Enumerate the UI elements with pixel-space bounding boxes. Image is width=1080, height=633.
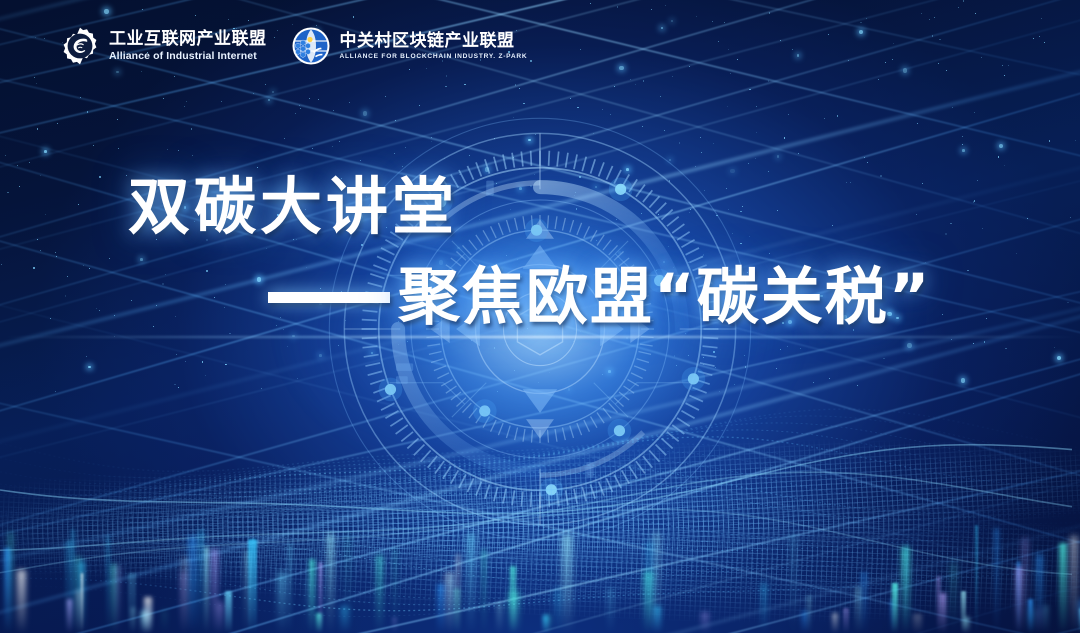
poster-main-title: 双碳大讲堂 <box>128 176 1080 238</box>
logo-bar: 工业互联网产业联盟 Alliance of Industrial Interne… <box>60 26 527 66</box>
horizontal-light-beam <box>0 336 1080 338</box>
logo-en-blockchain: ALLIANCE FOR BLOCKCHAIN INDUSTRY. Z-PARK <box>340 54 528 61</box>
logo-industrial-internet: 工业互联网产业联盟 Alliance of Industrial Interne… <box>60 26 267 66</box>
digital-wave <box>0 403 1080 633</box>
event-poster: 工业互联网产业联盟 Alliance of Industrial Interne… <box>0 0 1080 633</box>
logo-en-industrial: Alliance of Industrial Internet <box>109 51 267 62</box>
logo-cn-industrial: 工业互联网产业联盟 <box>109 30 267 47</box>
logo-cn-blockchain: 中关村区块链产业联盟 <box>340 32 528 49</box>
globe-blockchain-icon <box>291 26 331 66</box>
logo-blockchain-zpark: 中关村区块链产业联盟 ALLIANCE FOR BLOCKCHAIN INDUS… <box>291 26 528 66</box>
poster-subtitle: 聚焦欧盟“碳关税” <box>268 266 1080 328</box>
logo-text-blockchain: 中关村区块链产业联盟 ALLIANCE FOR BLOCKCHAIN INDUS… <box>340 32 528 61</box>
em-dash-rule <box>268 292 390 303</box>
poster-subtitle-text: 聚焦欧盟“碳关税” <box>398 266 932 328</box>
gear-swoosh-icon <box>60 26 100 66</box>
logo-text-industrial: 工业互联网产业联盟 Alliance of Industrial Interne… <box>109 30 267 62</box>
title-block: 双碳大讲堂 聚焦欧盟“碳关税” <box>0 176 1080 328</box>
